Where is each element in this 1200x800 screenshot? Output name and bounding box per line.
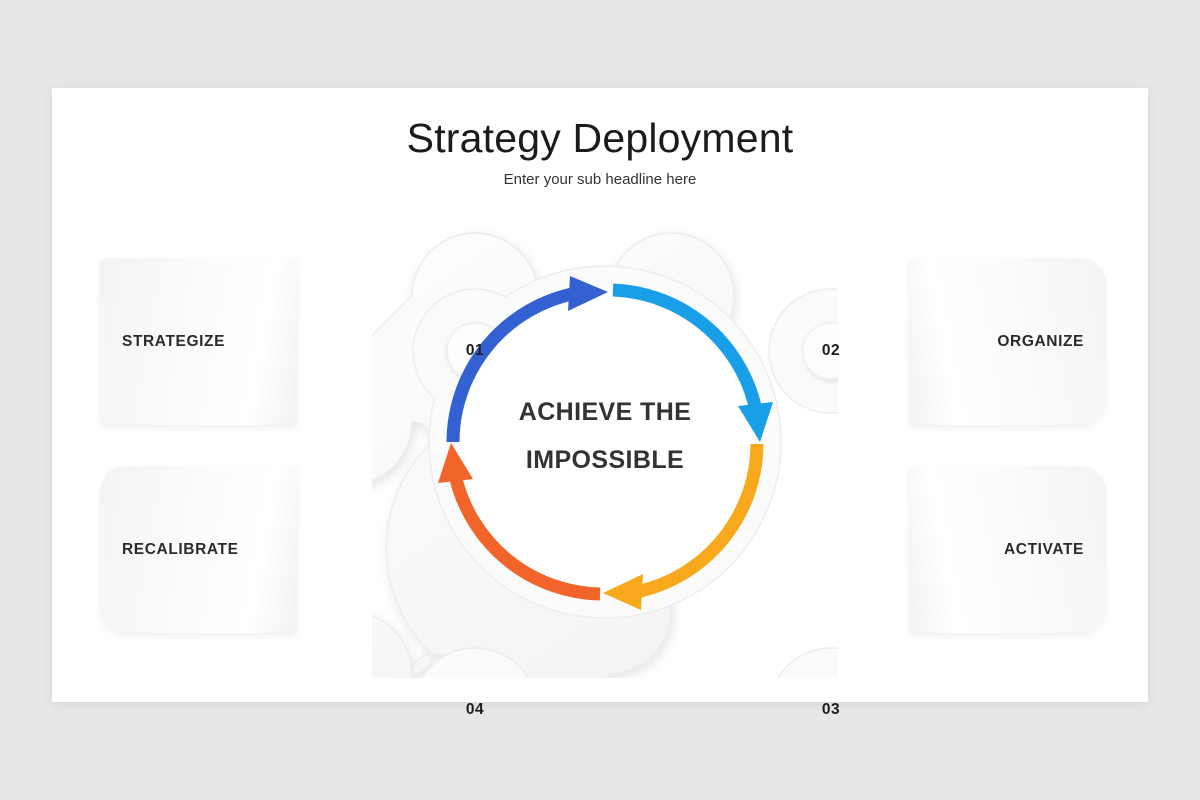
step-card-label: STRATEGIZE bbox=[122, 333, 225, 351]
step-card-label: ORGANIZE bbox=[997, 333, 1084, 351]
step-card-activate[interactable]: ACTIVATE bbox=[909, 466, 1106, 633]
screenshot-stage: Strategy Deployment Enter your sub headl… bbox=[0, 0, 1200, 800]
step-card-recalibrate[interactable]: RECALIBRATE bbox=[100, 466, 297, 633]
step-card-organize[interactable]: ORGANIZE bbox=[909, 258, 1106, 425]
page-subtitle: Enter your sub headline here bbox=[52, 171, 1148, 188]
step-number-04[interactable]: 04 bbox=[447, 682, 503, 738]
step-card-strategize[interactable]: STRATEGIZE bbox=[100, 258, 297, 425]
step-card-label: RECALIBRATE bbox=[122, 541, 239, 559]
page-title: Strategy Deployment bbox=[52, 116, 1148, 161]
cycle-diagram: ACHIEVE THE IMPOSSIBLE 01 02 03 04 bbox=[372, 206, 838, 678]
slide-canvas: Strategy Deployment Enter your sub headl… bbox=[52, 88, 1148, 702]
step-card-label: ACTIVATE bbox=[1004, 541, 1084, 559]
step-number-03[interactable]: 03 bbox=[803, 682, 859, 738]
